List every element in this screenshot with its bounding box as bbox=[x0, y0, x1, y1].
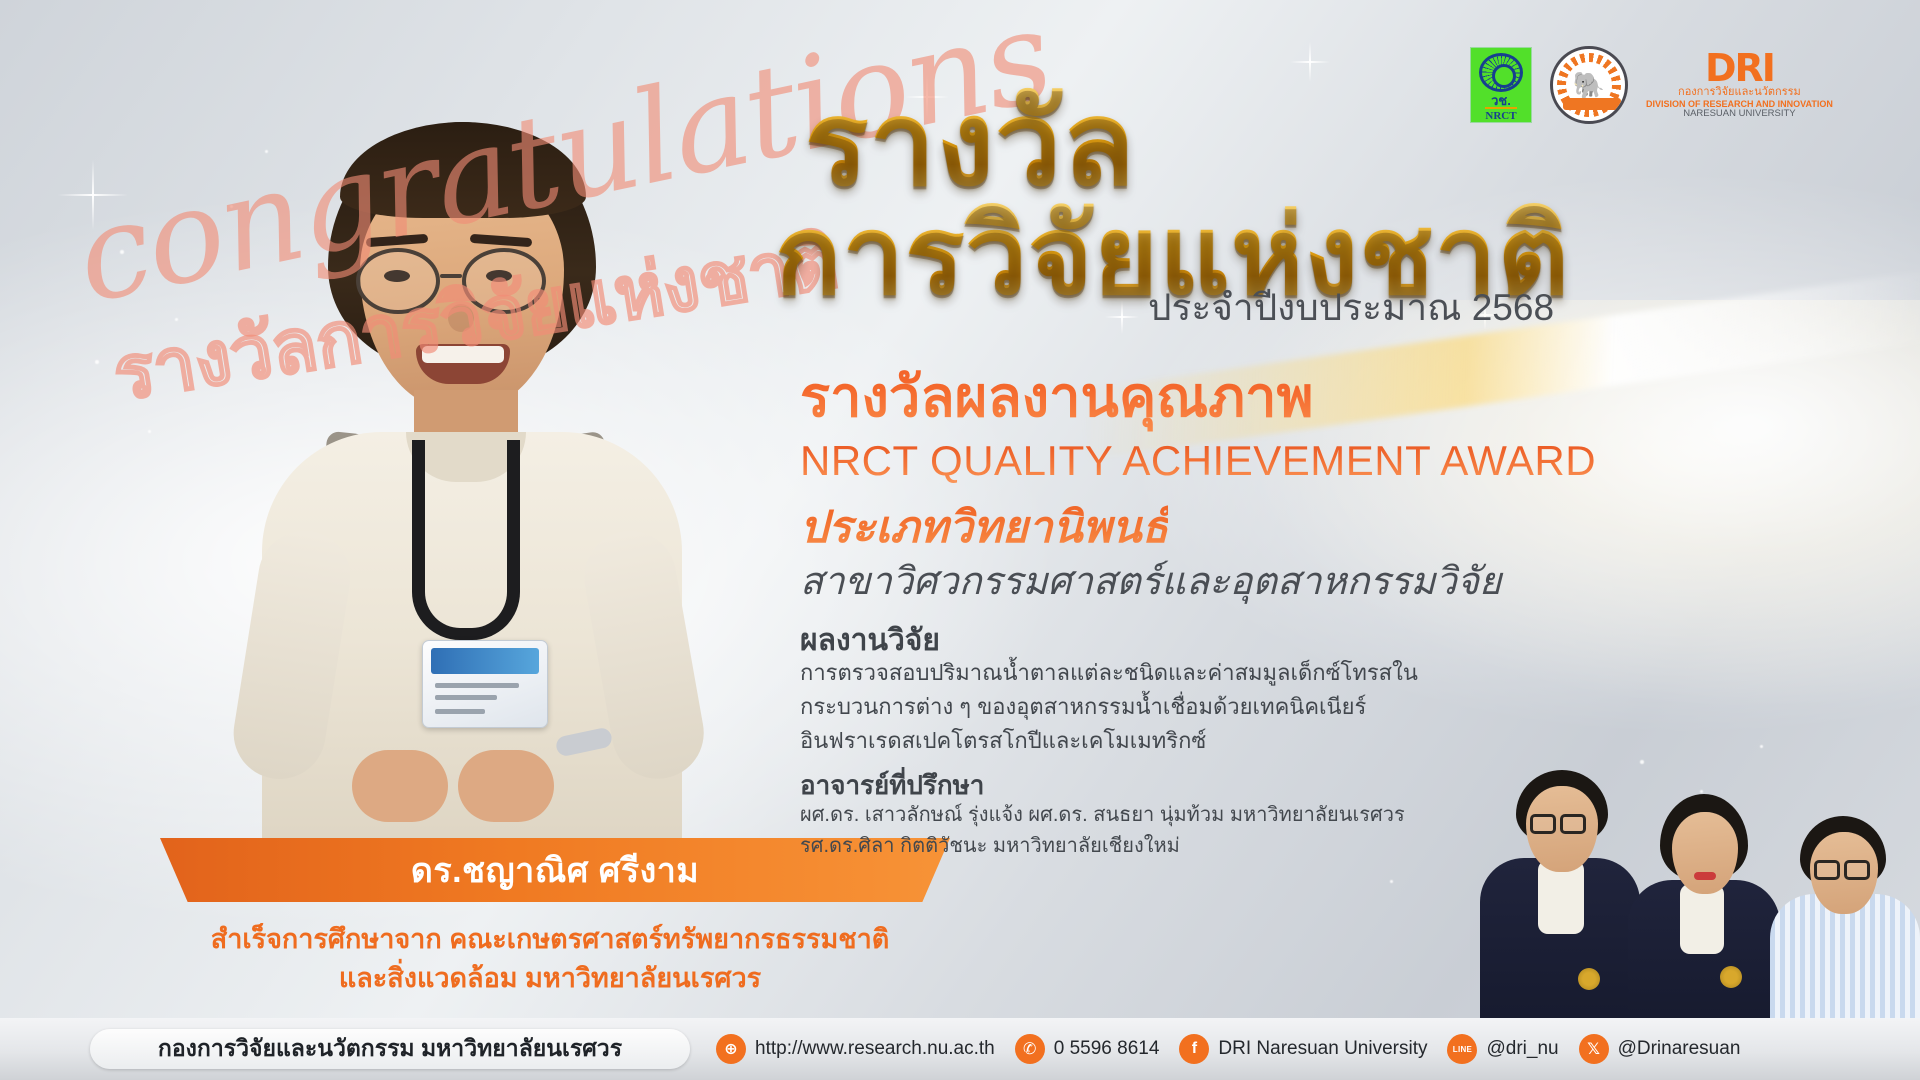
x-twitter-icon: 𝕏 bbox=[1579, 1034, 1609, 1064]
contact-facebook-label: DRI Naresuan University bbox=[1218, 1038, 1427, 1060]
contact-x-label: @Drinaresuan bbox=[1618, 1038, 1741, 1060]
dri-line-th: กองการวิจัยและนวัตกรรม bbox=[1678, 86, 1801, 99]
contact-line[interactable]: LINE @dri_nu bbox=[1447, 1034, 1558, 1064]
line-icon: LINE bbox=[1447, 1034, 1477, 1064]
graduation-info: สำเร็จการศึกษาจาก คณะเกษตรศาสตร์ทรัพยากร… bbox=[120, 920, 980, 998]
graduation-line-2: และสิ่งแวดล้อม มหาวิทยาลัยนเรศวร bbox=[120, 959, 980, 998]
award-poster: congratulations รางวัลการวิจัยแห่งชาติ ด… bbox=[0, 0, 1920, 1080]
advisor-photos bbox=[1470, 730, 1920, 1030]
footer-org-name: กองการวิจัยและนวัตกรรม มหาวิทยาลัยนเรศวร bbox=[158, 1031, 622, 1067]
advisor-portrait-1 bbox=[1480, 762, 1640, 1030]
contact-website[interactable]: ⊕ http://www.research.nu.ac.th bbox=[716, 1034, 995, 1064]
award-field-th: สาขาวิศวกรรมศาสตร์และอุตสาหกรรมวิจัย bbox=[800, 550, 1501, 611]
contact-website-label: http://www.research.nu.ac.th bbox=[755, 1038, 995, 1060]
advisor-portrait-3 bbox=[1770, 794, 1920, 1030]
globe-icon: ⊕ bbox=[716, 1034, 746, 1064]
footer-contacts: ⊕ http://www.research.nu.ac.th ✆ 0 5596 … bbox=[716, 1034, 1740, 1064]
advisor-portrait-2 bbox=[1628, 780, 1780, 1030]
phone-icon: ✆ bbox=[1015, 1034, 1045, 1064]
naresuan-seal-logo: 🐘 bbox=[1550, 46, 1628, 124]
fiscal-year: ประจำปีงบประมาณ 2568 bbox=[1148, 278, 1554, 337]
advisors-body: ผศ.ดร. เสาวลักษณ์ รุ่งแจ้ง ผศ.ดร. สนธยา … bbox=[800, 800, 1440, 862]
nrct-wheel-icon bbox=[1479, 53, 1523, 92]
awardee-photo bbox=[200, 60, 760, 840]
contact-x-twitter[interactable]: 𝕏 @Drinaresuan bbox=[1579, 1034, 1741, 1064]
awardee-name: ดร.ชญาณิศ ศรีงาม bbox=[411, 843, 699, 897]
award-title-th: รางวัลผลงานคุณภาพ bbox=[800, 352, 1314, 441]
nrct-abbr-en: NRCT bbox=[1485, 107, 1516, 122]
nrct-logo: วช. NRCT bbox=[1470, 47, 1532, 123]
elephant-icon: 🐘 bbox=[1573, 72, 1605, 98]
research-body: การตรวจสอบปริมาณน้ำตาลแต่ละชนิดและค่าสมม… bbox=[800, 656, 1420, 758]
footer-org-pill: กองการวิจัยและนวัตกรรม มหาวิทยาลัยนเรศวร bbox=[90, 1029, 690, 1069]
facebook-icon: f bbox=[1179, 1034, 1209, 1064]
contact-facebook[interactable]: f DRI Naresuan University bbox=[1179, 1034, 1427, 1064]
contact-phone[interactable]: ✆ 0 5596 8614 bbox=[1015, 1034, 1160, 1064]
footer-bar: กองการวิจัยและนวัตกรรม มหาวิทยาลัยนเรศวร… bbox=[0, 1018, 1920, 1080]
nrct-abbr-th: วช. bbox=[1491, 94, 1511, 107]
award-title-en: NRCT QUALITY ACHIEVEMENT AWARD bbox=[800, 437, 1596, 485]
contact-phone-label: 0 5596 8614 bbox=[1054, 1038, 1160, 1060]
dri-logo: DRI กองการวิจัยและนวัตกรรม DIVISION OF R… bbox=[1646, 50, 1833, 120]
dri-mark: DRI bbox=[1705, 50, 1774, 86]
advisor-line-2: รศ.ดร.ศิลา กิตติวัชนะ มหาวิทยาลัยเชียงให… bbox=[800, 831, 1440, 862]
advisor-line-1: ผศ.ดร. เสาวลักษณ์ รุ่งแจ้ง ผศ.ดร. สนธยา … bbox=[800, 800, 1440, 831]
dri-line-en2: NARESUAN UNIVERSITY bbox=[1683, 109, 1795, 120]
logo-group: วช. NRCT 🐘 DRI กองการวิจัยและนวัตกรรม DI… bbox=[1470, 46, 1833, 124]
contact-line-label: @dri_nu bbox=[1486, 1038, 1558, 1060]
graduation-line-1: สำเร็จการศึกษาจาก คณะเกษตรศาสตร์ทรัพยากร… bbox=[120, 920, 980, 959]
